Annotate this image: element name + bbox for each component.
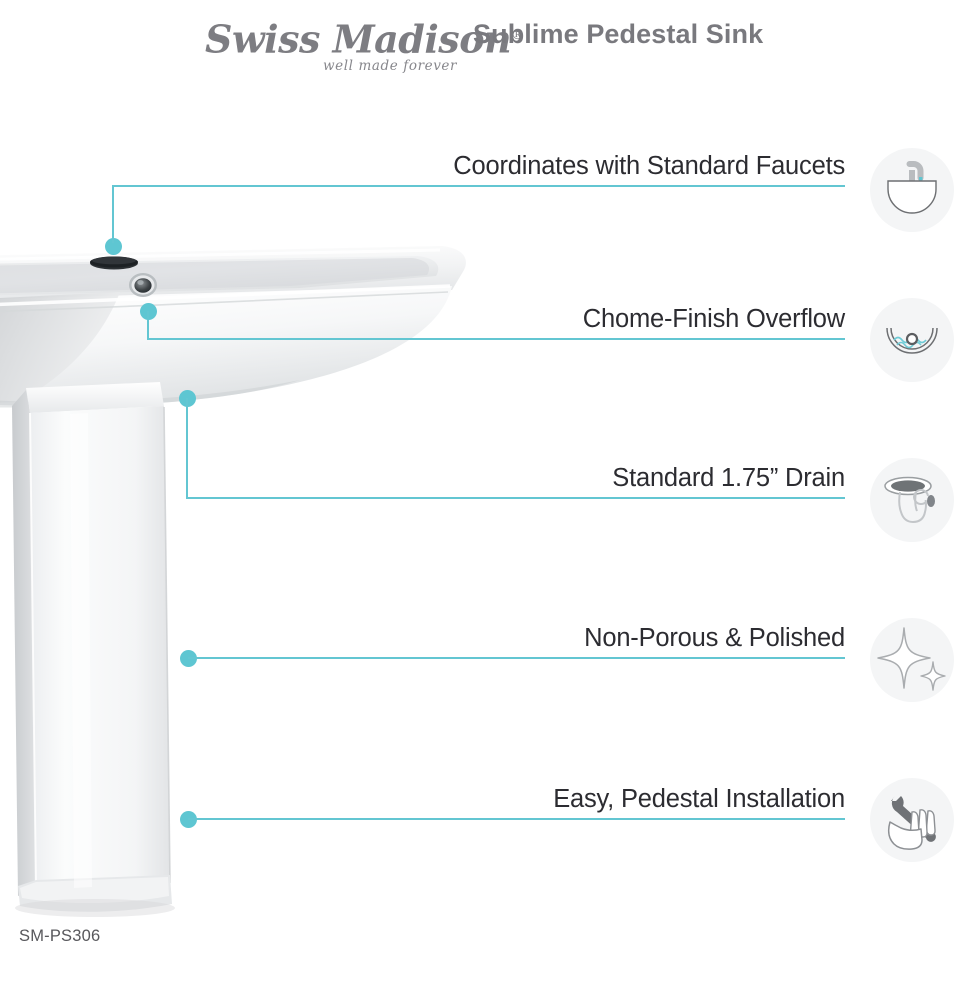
sink-with-faucet-icon (870, 148, 954, 232)
brand-tagline: well made forever (323, 58, 457, 74)
feature-label-1: Coordinates with Standard Faucets (345, 152, 845, 181)
page-title: Sublime Pedestal Sink (473, 19, 763, 50)
header: Swiss Madison® well made forever Sublime… (0, 0, 976, 92)
feature-label-4: Non-Porous & Polished (455, 624, 845, 653)
drain-p-trap-icon (870, 458, 954, 542)
product-image (0, 230, 470, 930)
callout-leader-vertical-1 (112, 185, 114, 243)
sink-pedestal-graphic (0, 380, 300, 930)
feature-label-5: Easy, Pedestal Installation (415, 785, 845, 814)
hand-wrench-icon (870, 778, 954, 862)
brand-name-text: Swiss Madison (205, 17, 511, 62)
callout-leader-horizontal-4 (188, 657, 845, 659)
callout-leader-vertical-2 (147, 311, 149, 340)
callout-leader-horizontal-5 (188, 818, 845, 820)
sparkle-shine-icon (870, 618, 954, 702)
brand-logo: Swiss Madison® well made forever (205, 14, 460, 76)
feature-label-2: Chome-Finish Overflow (445, 305, 845, 334)
callout-leader-vertical-3 (186, 398, 188, 499)
basin-overflow-water-icon (870, 298, 954, 382)
brand-wordmark: Swiss Madison® (205, 14, 453, 62)
feature-label-3: Standard 1.75” Drain (495, 464, 845, 493)
model-number: SM-PS306 (19, 927, 100, 946)
callout-leader-horizontal-1 (112, 185, 845, 187)
callout-leader-horizontal-2 (147, 338, 845, 340)
callout-leader-horizontal-3 (186, 497, 845, 499)
